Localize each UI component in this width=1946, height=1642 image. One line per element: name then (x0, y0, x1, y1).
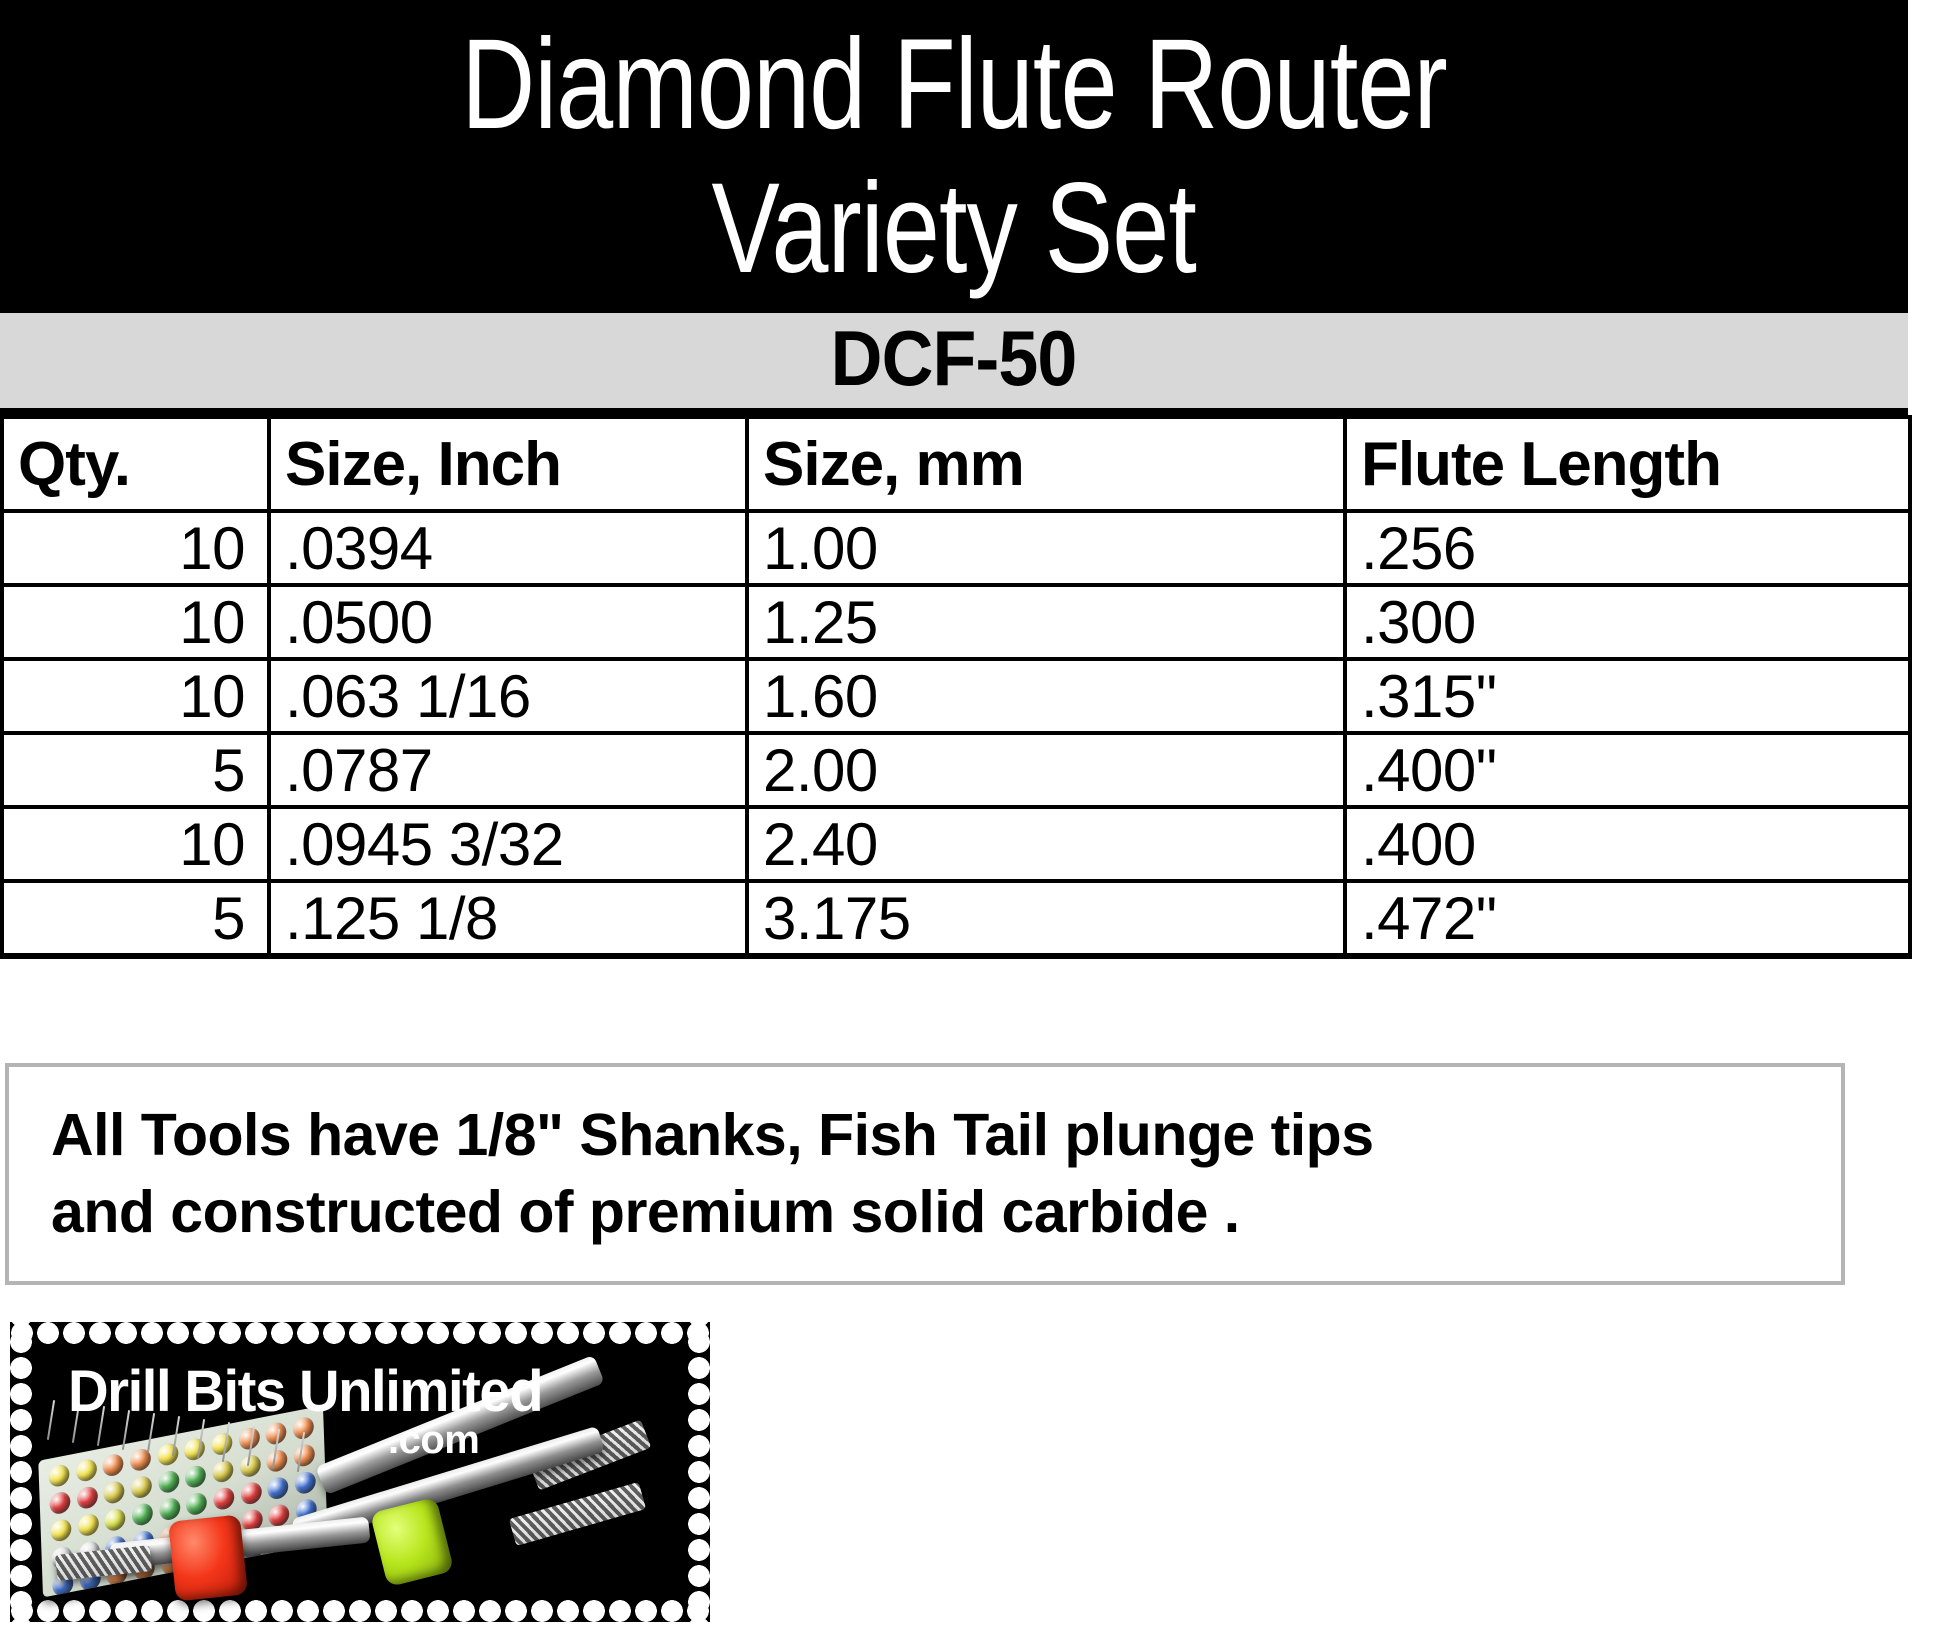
drill-bit-collar (104, 1480, 125, 1505)
cell-flute-length: .472" (1345, 881, 1910, 956)
footnote-box: All Tools have 1/8" Shanks, Fish Tail pl… (5, 1063, 1845, 1285)
cell-size-inch: .0787 (269, 733, 747, 807)
cell-flute-length: .256 (1345, 511, 1910, 585)
cell-qty: 10 (2, 659, 269, 733)
cell-qty: 5 (2, 881, 269, 956)
drill-bit-collar (295, 1470, 316, 1495)
footnote-line-1: All Tools have 1/8" Shanks, Fish Tail pl… (51, 1097, 1841, 1174)
drill-bit-collar (105, 1507, 126, 1532)
table-row: 10 .0500 1.25 .300 (2, 585, 1910, 659)
drill-bit-collar (132, 1502, 153, 1527)
specification-table-container: Qty. Size, Inch Size, mm Flute Length 10… (0, 415, 1908, 959)
drill-bit-collar (158, 1469, 179, 1494)
cell-flute-length: .400 (1345, 807, 1910, 881)
column-header-flute-length: Flute Length (1345, 417, 1910, 511)
cell-size-inch: .0945 3/32 (269, 807, 747, 881)
red-depth-ring (168, 1514, 248, 1601)
cell-flute-length: .400" (1345, 733, 1910, 807)
cell-qty: 10 (2, 807, 269, 881)
table-body: 10 .0394 1.00 .256 10 .0500 1.25 .300 10… (2, 511, 1910, 956)
cell-size-inch: .0500 (269, 585, 747, 659)
footnote-line-2: and constructed of premium solid carbide… (51, 1174, 1841, 1251)
drill-bit-collar (77, 1512, 98, 1537)
table-row: 10 .063 1/16 1.60 .315" (2, 659, 1910, 733)
table-row: 10 .0394 1.00 .256 (2, 511, 1910, 585)
drill-bit-collar (240, 1481, 261, 1506)
cell-size-inch: .125 1/8 (269, 881, 747, 956)
part-number-band: DCF-50 (0, 313, 1908, 415)
logo-brand-text: Drill Bits Unlimited (68, 1358, 542, 1425)
table-header-row: Qty. Size, Inch Size, mm Flute Length (2, 417, 1910, 511)
cell-size-inch: .063 1/16 (269, 659, 747, 733)
cell-size-inch: .0394 (269, 511, 747, 585)
specification-table: Qty. Size, Inch Size, mm Flute Length 10… (0, 415, 1912, 959)
cell-flute-length: .315" (1345, 659, 1910, 733)
cell-qty: 10 (2, 585, 269, 659)
column-header-size-inch: Size, Inch (269, 417, 747, 511)
company-logo: Drill Bits Unlimited .com (10, 1322, 710, 1622)
drill-bit-collar (159, 1497, 180, 1522)
column-header-size-mm: Size, mm (747, 417, 1345, 511)
cell-size-mm: 1.25 (747, 585, 1345, 659)
cell-size-mm: 1.60 (747, 659, 1345, 733)
cell-size-mm: 3.175 (747, 881, 1345, 956)
title-banner: Diamond Flute Router Variety Set (0, 0, 1908, 313)
drill-bit-collar (76, 1458, 97, 1483)
drill-bit-collar (267, 1475, 288, 1500)
drill-bit-collar (50, 1518, 71, 1543)
drill-bit-collar (212, 1459, 233, 1484)
drill-bit-collar (49, 1490, 70, 1515)
drill-bit-collar (213, 1486, 234, 1511)
part-number: DCF-50 (831, 319, 1077, 403)
drill-bit-collar (185, 1464, 206, 1489)
drill-bit-collar (76, 1485, 97, 1510)
drill-bit-collar (186, 1491, 207, 1516)
cell-size-mm: 2.00 (747, 733, 1345, 807)
table-row: 5 .125 1/8 3.175 .472" (2, 881, 1910, 956)
column-header-qty: Qty. (2, 417, 269, 511)
drill-bit-collar (267, 1448, 288, 1473)
table-row: 5 .0787 2.00 .400" (2, 733, 1910, 807)
cell-size-mm: 2.40 (747, 807, 1345, 881)
table-header: Qty. Size, Inch Size, mm Flute Length (2, 417, 1910, 511)
drill-bit-collar (48, 1463, 69, 1488)
drill-bit-collar (131, 1475, 152, 1500)
cell-flute-length: .300 (1345, 585, 1910, 659)
cell-qty: 10 (2, 511, 269, 585)
product-title-line-1: Diamond Flute Router (461, 13, 1447, 156)
drill-bit-collar (103, 1452, 124, 1477)
table-row: 10 .0945 3/32 2.40 .400 (2, 807, 1910, 881)
logo-tld-text: .com (388, 1418, 479, 1463)
cell-qty: 5 (2, 733, 269, 807)
product-title-line-2: Variety Set (712, 157, 1196, 300)
cell-size-mm: 1.00 (747, 511, 1345, 585)
